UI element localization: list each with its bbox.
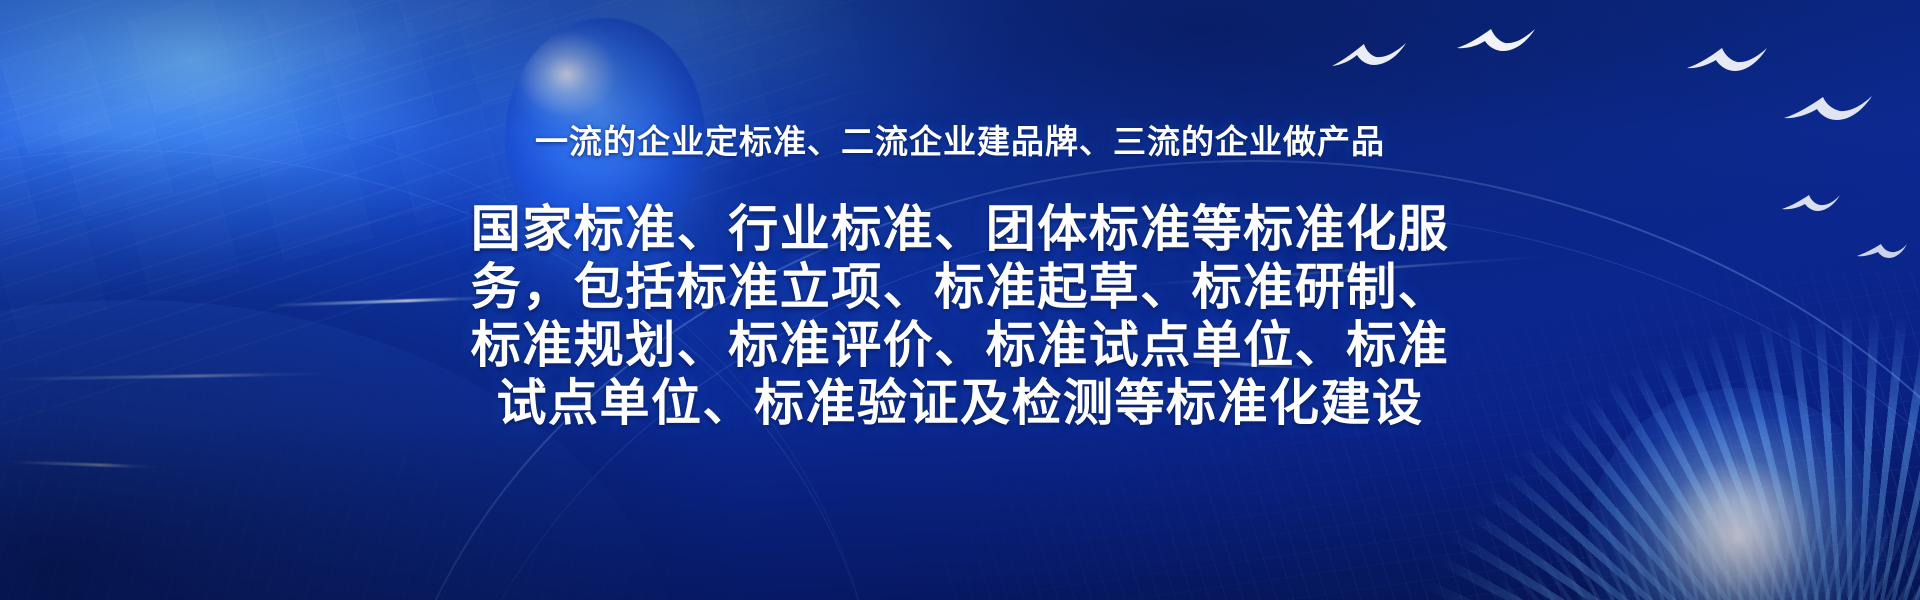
- body-line: 试点单位、标准验证及检测等标准化建设: [0, 374, 1920, 432]
- seagull-icon: [1685, 44, 1769, 78]
- body-text-block: 国家标准、行业标准、团体标准等标准化服 务，包括标准立项、标准起草、标准研制、 …: [0, 200, 1920, 432]
- headline: 一流的企业定标准、二流企业建品牌、三流的企业做产品: [0, 122, 1920, 162]
- body-line: 国家标准、行业标准、团体标准等标准化服: [0, 200, 1920, 258]
- banner-stage: 一流的企业定标准、二流企业建品牌、三流的企业做产品 国家标准、行业标准、团体标准…: [0, 0, 1920, 600]
- body-line: 标准规划、标准评价、标准试点单位、标准: [0, 316, 1920, 374]
- seagull-icon: [1330, 38, 1408, 72]
- seagull-icon: [1455, 26, 1537, 58]
- seagull-icon: [1782, 92, 1874, 126]
- body-line: 务，包括标准立项、标准起草、标准研制、: [0, 258, 1920, 316]
